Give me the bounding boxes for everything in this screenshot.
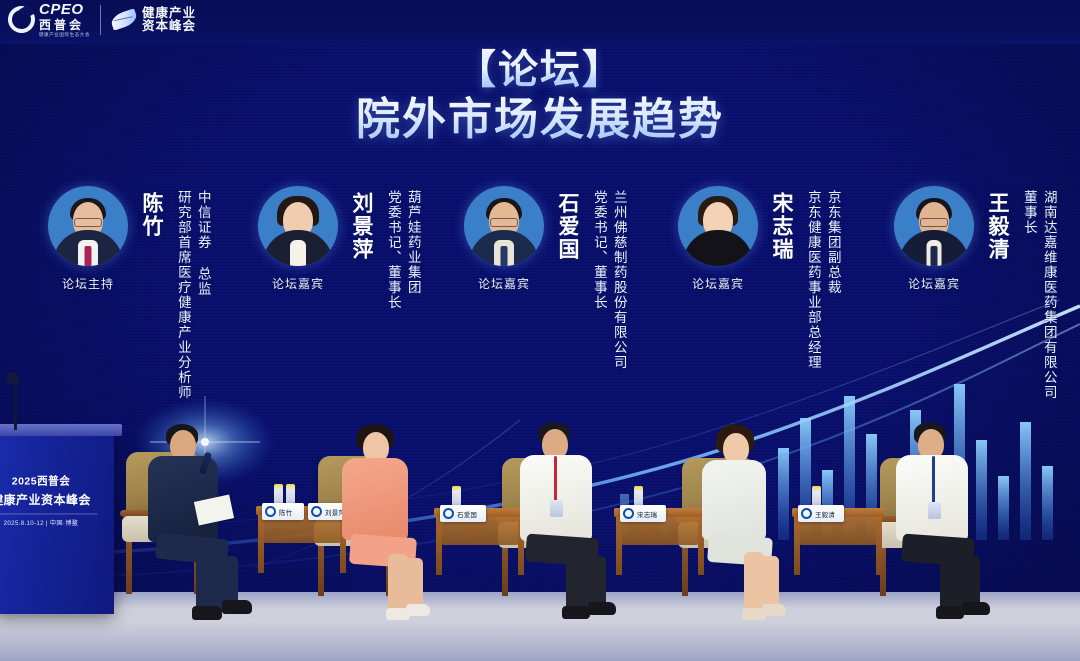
leaf-icon bbox=[109, 9, 138, 31]
nameplate: 宋志瑞 bbox=[620, 505, 666, 522]
nameplate-logo-icon bbox=[443, 508, 454, 519]
nameplate-logo-icon bbox=[801, 508, 812, 519]
cpeo-ring-logo: CPEO 西普会 健康产业国际生态大会 bbox=[8, 2, 90, 38]
podium-line-1: 2025西普会 bbox=[0, 473, 98, 488]
microphone-icon bbox=[6, 372, 19, 385]
cpeo-ring-icon bbox=[3, 1, 41, 39]
stage-floor bbox=[0, 592, 1080, 661]
leaf-logo: 健康产业 资本峰会 bbox=[111, 7, 196, 33]
nameplate-text: 宋志瑞 bbox=[637, 509, 657, 519]
summit-line-1: 健康产业 bbox=[142, 7, 196, 20]
podium-top-surface bbox=[0, 424, 122, 436]
microphone-stand bbox=[14, 378, 17, 430]
nameplate-logo-icon bbox=[265, 506, 276, 517]
summit-line-2: 资本峰会 bbox=[142, 20, 196, 33]
podium-banner-text: 2025西普会 健康产业资本峰会 2025.8.10-12 | 中国·博鳌 bbox=[0, 473, 98, 527]
podium-line-2: 健康产业资本峰会 bbox=[0, 489, 98, 507]
logo-cn-name: 西普会 bbox=[39, 19, 90, 31]
nameplate: 石爱国 bbox=[440, 505, 486, 522]
nameplate-text: 陈竹 bbox=[279, 507, 292, 517]
nameplate: 陈竹 bbox=[262, 503, 304, 520]
nameplate-logo-icon bbox=[311, 506, 322, 517]
nameplate: 王毅清 bbox=[798, 505, 844, 522]
podium-line-3: 2025.8.10-12 | 中国·博鳌 bbox=[0, 513, 98, 526]
logo-tagline: 健康产业国际生态大会 bbox=[39, 33, 90, 38]
nameplate-logo-icon bbox=[623, 508, 634, 519]
event-logo-band: CPEO 西普会 健康产业国际生态大会 健康产业 资本峰会 bbox=[0, 0, 1080, 44]
logo-divider bbox=[100, 5, 101, 35]
nameplate-text: 石爱国 bbox=[457, 509, 477, 519]
nameplate-text: 王毅清 bbox=[815, 509, 835, 519]
logo-acronym: CPEO bbox=[39, 2, 90, 17]
forum-stage-photo: CPEO 西普会 健康产业国际生态大会 健康产业 资本峰会 【论坛】 院外市场发… bbox=[0, 0, 1080, 661]
